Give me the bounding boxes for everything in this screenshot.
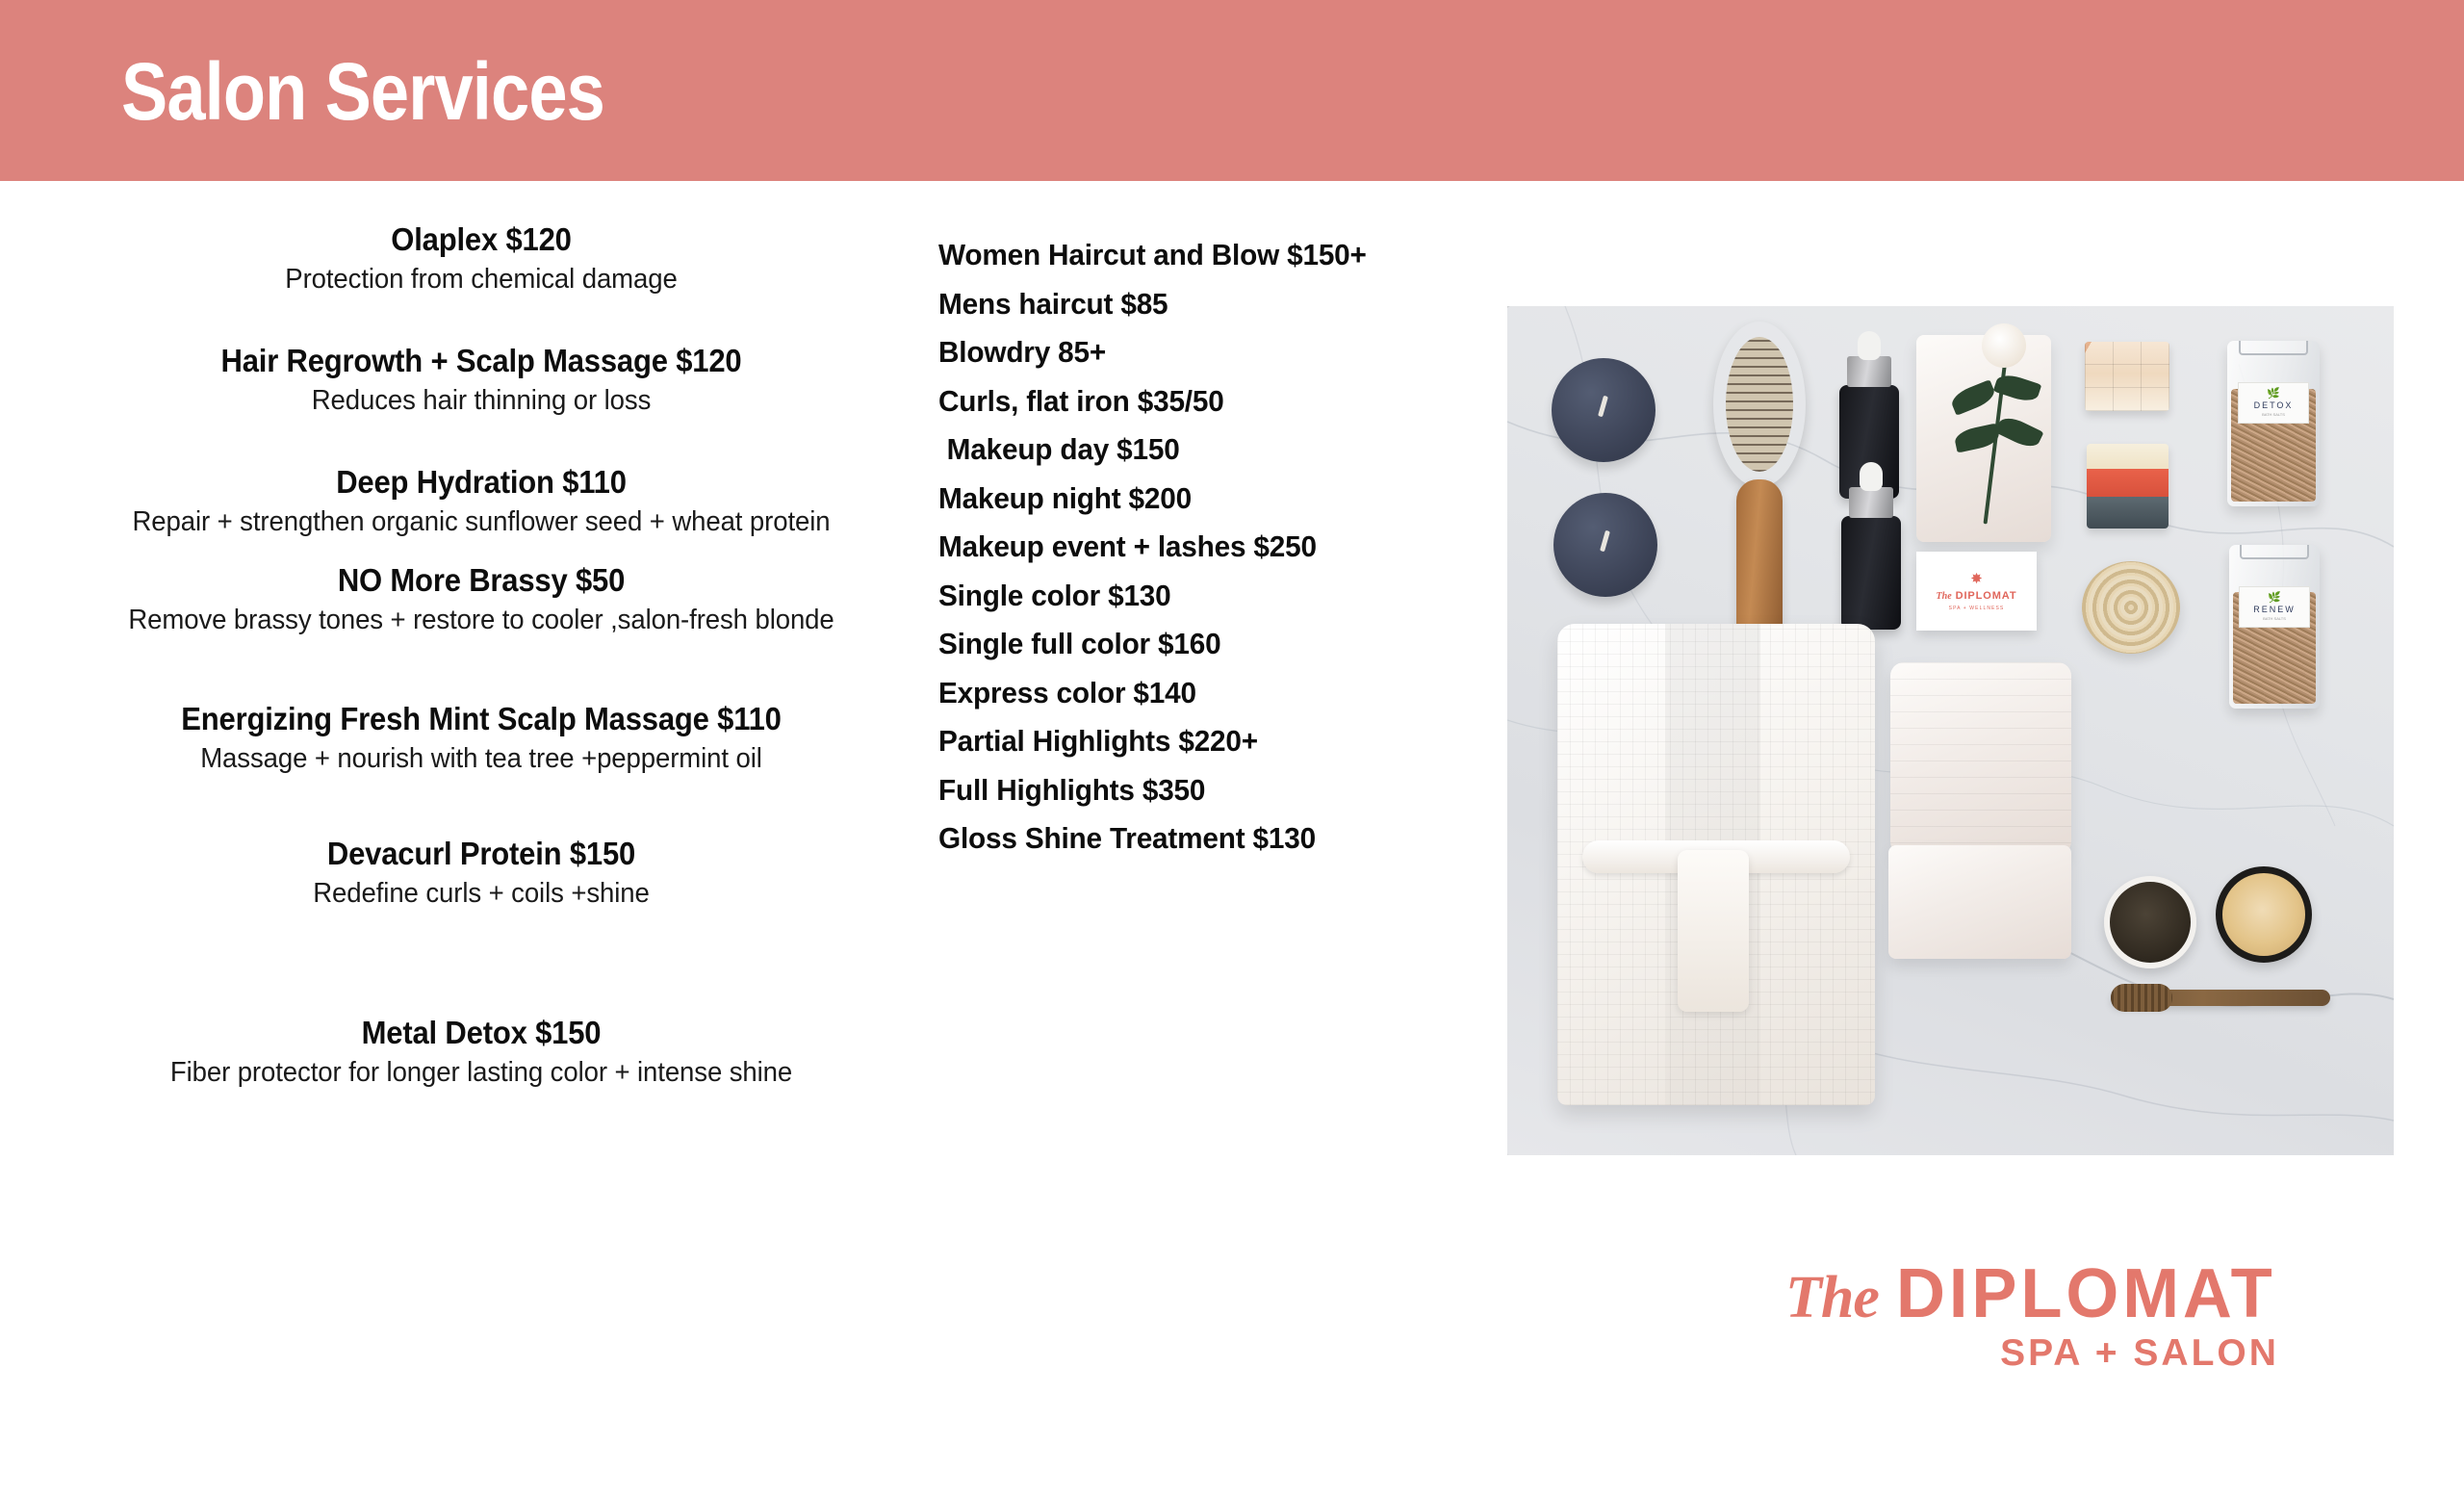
treatment-name: Olaplex $120 bbox=[83, 219, 879, 260]
service-item: Makeup night $200 bbox=[938, 475, 1493, 524]
treatment-item: Hair Regrowth + Scalp Massage $120Reduce… bbox=[58, 341, 905, 420]
bath-salt-jar-renew: HERBIVORE BOTANICALS 🌿 RENEW BATH SALTS bbox=[2229, 545, 2320, 709]
treatment-item: Metal Detox $150Fiber protector for long… bbox=[58, 1013, 905, 1092]
jar-word: RENEW bbox=[2243, 605, 2305, 614]
service-item: Single full color $160 bbox=[938, 620, 1493, 669]
service-item: Gloss Shine Treatment $130 bbox=[938, 814, 1493, 864]
service-item: Express color $140 bbox=[938, 669, 1493, 718]
service-item: Makeup event + lashes $250 bbox=[938, 523, 1493, 572]
service-item: Makeup day $150 bbox=[938, 426, 1493, 475]
brand-the: The bbox=[1785, 1268, 1879, 1328]
business-card: ✸ The DIPLOMAT SPA + WELLNESS bbox=[1916, 552, 2037, 631]
treatment-description: Redefine curls + coils +shine bbox=[79, 874, 884, 913]
soap-bar bbox=[2087, 444, 2169, 529]
service-item: Curls, flat iron $35/50 bbox=[938, 377, 1493, 426]
treatments-column: Olaplex $120Protection from chemical dam… bbox=[58, 219, 905, 1092]
botanical-icon: 🌿 bbox=[2243, 592, 2305, 605]
clay-mask-pot bbox=[2104, 876, 2196, 968]
honey-dipper-icon bbox=[2111, 990, 2330, 1006]
service-item: Blowdry 85+ bbox=[938, 328, 1493, 377]
card-brand-name: DIPLOMAT bbox=[1956, 590, 2017, 602]
treatment-item: Devacurl Protein $150Redefine curls + co… bbox=[58, 834, 905, 913]
treatment-name: Hair Regrowth + Scalp Massage $120 bbox=[83, 341, 879, 381]
service-item: Single color $130 bbox=[938, 572, 1493, 621]
treatment-item: Energizing Fresh Mint Scalp Massage $110… bbox=[58, 699, 905, 778]
treatment-name: Metal Detox $150 bbox=[83, 1013, 879, 1053]
hair-brush-icon bbox=[1713, 322, 1806, 662]
treatment-description: Repair + strengthen organic sunflower se… bbox=[79, 503, 884, 541]
diplomat-mark-icon: ✸ bbox=[1970, 572, 1983, 586]
brand-logo: The DIPLOMAT SPA + SALON bbox=[1785, 1259, 2401, 1375]
loofah-icon bbox=[2082, 561, 2180, 654]
treatment-name: NO More Brassy $50 bbox=[83, 560, 879, 601]
dropper-bottle-icon bbox=[1841, 516, 1901, 630]
card-the: The bbox=[1937, 591, 1952, 602]
treatment-description: Reduces hair thinning or loss bbox=[79, 381, 884, 420]
brand-subtitle: SPA + SALON bbox=[1785, 1332, 2401, 1375]
brand-name: DIPLOMAT bbox=[1896, 1259, 2276, 1328]
treatment-description: Protection from chemical damage bbox=[79, 260, 884, 298]
jar-fine: BATH SALTS bbox=[2242, 412, 2306, 417]
slide-root: Salon Services Olaplex $120Protection fr… bbox=[0, 0, 2464, 1496]
treatment-name: Energizing Fresh Mint Scalp Massage $110 bbox=[83, 699, 879, 739]
botanical-icon: 🌿 bbox=[2242, 388, 2306, 400]
bath-salt-jar-detox: HERBIVORE BOTANICALS 🌿 DETOX BATH SALTS bbox=[2227, 341, 2320, 506]
service-item: Partial Highlights $220+ bbox=[938, 717, 1493, 766]
candle-icon bbox=[1553, 493, 1657, 597]
rolled-towel bbox=[1890, 662, 2071, 855]
treatment-item: Olaplex $120Protection from chemical dam… bbox=[58, 219, 905, 298]
treatment-item: Deep Hydration $110Repair + strengthen o… bbox=[58, 462, 905, 541]
candle-icon bbox=[1552, 358, 1655, 462]
spa-flatlay-photo: ✸ The DIPLOMAT SPA + WELLNESS HERBIVORE … bbox=[1507, 306, 2394, 1155]
waffle-robe bbox=[1557, 624, 1875, 1105]
service-item: Full Highlights $350 bbox=[938, 766, 1493, 815]
stacked-towel bbox=[1888, 845, 2071, 959]
treatment-description: Remove brassy tones + restore to cooler … bbox=[79, 601, 884, 639]
soap-bar bbox=[2085, 342, 2169, 411]
cream-jar bbox=[2216, 866, 2312, 963]
treatment-name: Devacurl Protein $150 bbox=[83, 834, 879, 874]
treatment-name: Deep Hydration $110 bbox=[83, 462, 879, 503]
service-item: Women Haircut and Blow $150+ bbox=[938, 231, 1493, 280]
services-column: Women Haircut and Blow $150+Mens haircut… bbox=[938, 231, 1516, 864]
jar-fine: BATH SALTS bbox=[2243, 616, 2305, 621]
jar-word: DETOX bbox=[2242, 400, 2306, 410]
treatment-description: Massage + nourish with tea tree +pepperm… bbox=[79, 739, 884, 778]
flower-icon bbox=[1974, 327, 1999, 534]
treatment-description: Fiber protector for longer lasting color… bbox=[79, 1053, 884, 1092]
treatment-item: NO More Brassy $50Remove brassy tones + … bbox=[58, 560, 905, 639]
card-subtitle: SPA + WELLNESS bbox=[1949, 606, 2005, 611]
page-title: Salon Services bbox=[121, 39, 604, 144]
service-item: Mens haircut $85 bbox=[938, 280, 1493, 329]
